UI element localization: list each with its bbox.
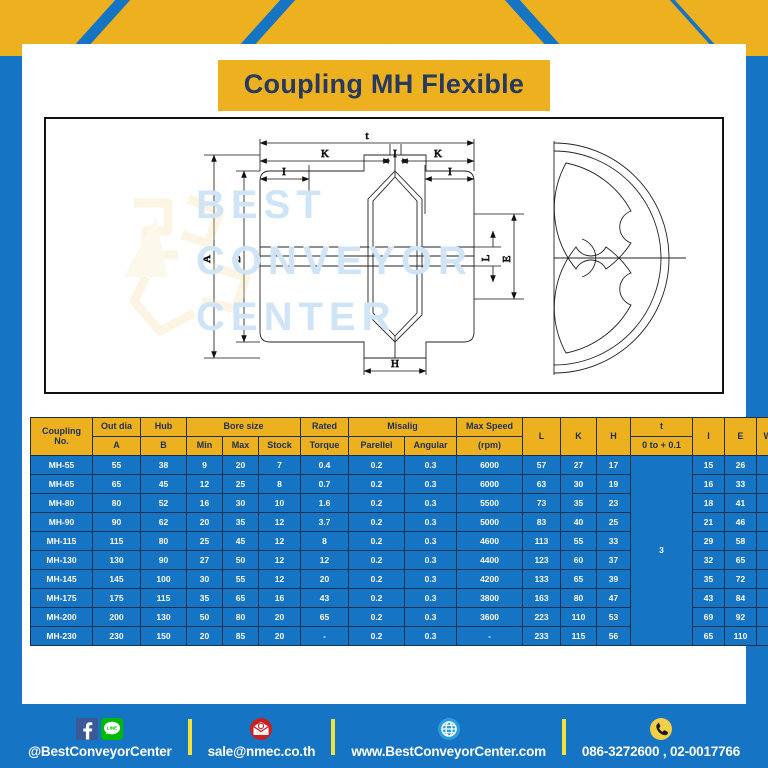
col-t-tolerance: 0 to + 0.1 <box>631 437 693 456</box>
cell-angular: 0.3 <box>405 456 457 475</box>
cell-K: 65 <box>561 570 597 589</box>
spec-sheet-page: Coupling MH Flexible BEST CONVEYOR CENTE… <box>0 0 768 768</box>
cell-torque: 0.7 <box>301 475 349 494</box>
footer-email-group[interactable]: sale@nmec.co.th <box>198 716 326 759</box>
cell-min: 20 <box>187 627 223 646</box>
dim-label-e: E <box>501 255 513 262</box>
cell-max: 35 <box>223 513 259 532</box>
cell-no: MH-175 <box>31 589 93 608</box>
cell-t: 3 <box>631 456 693 646</box>
col-h: H <box>597 418 631 456</box>
footer-contact-bar: LINE @BestConveyorCenter sale@nmec.co.th <box>0 706 768 768</box>
cell-weight: 1.5 <box>757 494 768 513</box>
cell-weight: 42.0 <box>757 627 768 646</box>
table-header-row-1: CouplingNo. Out dia Hub Bore size Rated … <box>31 418 768 437</box>
footer-social-text[interactable]: @BestConveyorCenter <box>28 744 172 759</box>
cell-L: 233 <box>523 627 561 646</box>
facebook-icon[interactable] <box>76 718 98 740</box>
cell-min: 50 <box>187 608 223 627</box>
cell-no: MH-130 <box>31 551 93 570</box>
footer-website-text[interactable]: www.BestConveyorCenter.com <box>351 744 546 759</box>
cell-rpm: 3800 <box>457 589 523 608</box>
col-e: E <box>725 418 757 456</box>
cell-min: 35 <box>187 589 223 608</box>
cell-min: 9 <box>187 456 223 475</box>
col-torque: Torque <box>301 437 349 456</box>
spider-half-view <box>554 141 686 375</box>
cell-max: 65 <box>223 589 259 608</box>
cell-max: 80 <box>223 608 259 627</box>
cell-max: 30 <box>223 494 259 513</box>
col-weight: Weight <box>757 418 768 456</box>
line-icon[interactable]: LINE <box>101 718 123 740</box>
cell-angular: 0.3 <box>405 513 457 532</box>
page-title-wrap: Coupling MH Flexible <box>22 60 746 111</box>
cell-angular: 0.3 <box>405 551 457 570</box>
cell-A: 130 <box>93 551 141 570</box>
col-rpm: (rpm) <box>457 437 523 456</box>
col-l: L <box>523 418 561 456</box>
cell-stock: 12 <box>259 551 301 570</box>
col-max: Max <box>223 437 259 456</box>
cell-stock: 20 <box>259 608 301 627</box>
cell-L: 113 <box>523 532 561 551</box>
cell-A: 115 <box>93 532 141 551</box>
cell-K: 30 <box>561 475 597 494</box>
cell-min: 27 <box>187 551 223 570</box>
cell-weight: 5.0 <box>757 532 768 551</box>
col-parellel: Parellel <box>349 437 405 456</box>
cell-I: 16 <box>693 475 725 494</box>
cell-parallel: 0.2 <box>349 608 405 627</box>
cell-E: 46 <box>725 513 757 532</box>
cell-H: 23 <box>597 494 631 513</box>
cell-H: 53 <box>597 608 631 627</box>
cell-I: 65 <box>693 627 725 646</box>
cell-H: 19 <box>597 475 631 494</box>
dim-label-k-right: K <box>434 148 442 160</box>
cell-stock: 20 <box>259 627 301 646</box>
cell-torque: 1.6 <box>301 494 349 513</box>
cell-L: 73 <box>523 494 561 513</box>
white-sheet: Coupling MH Flexible BEST CONVEYOR CENTE… <box>22 44 746 704</box>
cell-B: 115 <box>141 589 187 608</box>
cell-torque: - <box>301 627 349 646</box>
col-i: I <box>693 418 725 456</box>
cell-L: 57 <box>523 456 561 475</box>
cell-A: 55 <box>93 456 141 475</box>
cell-parallel: 0.2 <box>349 589 405 608</box>
footer-phone-group[interactable]: 086-3272600 , 02-0017766 <box>572 716 750 759</box>
cell-I: 69 <box>693 608 725 627</box>
cell-I: 18 <box>693 494 725 513</box>
cell-rpm: 4200 <box>457 570 523 589</box>
cell-parallel: 0.2 <box>349 551 405 570</box>
cell-L: 133 <box>523 570 561 589</box>
page-title: Coupling MH Flexible <box>218 60 551 111</box>
cell-no: MH-230 <box>31 627 93 646</box>
footer-phone-text[interactable]: 086-3272600 , 02-0017766 <box>582 744 740 759</box>
cell-max: 25 <box>223 475 259 494</box>
cell-E: 65 <box>725 551 757 570</box>
cell-rpm: 4400 <box>457 551 523 570</box>
cell-rpm: - <box>457 627 523 646</box>
cell-stock: 7 <box>259 456 301 475</box>
col-rated: Rated <box>301 418 349 437</box>
dim-label-i-center: I <box>393 148 397 160</box>
cell-torque: 65 <box>301 608 349 627</box>
cell-torque: 3.7 <box>301 513 349 532</box>
footer-website-group[interactable]: www.BestConveyorCenter.com <box>341 716 556 759</box>
cell-rpm: 5000 <box>457 513 523 532</box>
cell-max: 85 <box>223 627 259 646</box>
cell-stock: 12 <box>259 513 301 532</box>
cell-parallel: 0.2 <box>349 627 405 646</box>
cell-parallel: 0.2 <box>349 494 405 513</box>
cell-no: MH-55 <box>31 456 93 475</box>
cell-E: 84 <box>725 589 757 608</box>
footer-social-group[interactable]: LINE @BestConveyorCenter <box>18 716 182 759</box>
cell-angular: 0.3 <box>405 494 457 513</box>
specification-table-wrap: CouplingNo. Out dia Hub Bore size Rated … <box>30 417 738 646</box>
col-misalig: Misalig <box>349 418 457 437</box>
cell-L: 223 <box>523 608 561 627</box>
cell-torque: 12 <box>301 551 349 570</box>
cell-B: 80 <box>141 532 187 551</box>
footer-divider <box>331 719 335 755</box>
dim-label-t: t <box>365 130 368 142</box>
cell-H: 39 <box>597 570 631 589</box>
cell-stock: 10 <box>259 494 301 513</box>
cell-L: 163 <box>523 589 561 608</box>
col-coupling-no: CouplingNo. <box>31 418 93 456</box>
cell-A: 230 <box>93 627 141 646</box>
cell-K: 60 <box>561 551 597 570</box>
table-header-row-2: A B Min Max Stock Torque Parellel Angula… <box>31 437 768 456</box>
cell-no: MH-145 <box>31 570 93 589</box>
cell-I: 29 <box>693 532 725 551</box>
cell-E: 41 <box>725 494 757 513</box>
col-min: Min <box>187 437 223 456</box>
cell-parallel: 0.2 <box>349 475 405 494</box>
cell-parallel: 0.2 <box>349 513 405 532</box>
cell-E: 92 <box>725 608 757 627</box>
dim-label-h: H <box>391 358 399 370</box>
cell-weight: 0.6 <box>757 456 768 475</box>
footer-divider <box>188 719 192 755</box>
cell-A: 80 <box>93 494 141 513</box>
cell-H: 37 <box>597 551 631 570</box>
cell-H: 33 <box>597 532 631 551</box>
cell-stock: 8 <box>259 475 301 494</box>
cell-I: 35 <box>693 570 725 589</box>
cell-L: 63 <box>523 475 561 494</box>
cell-no: MH-200 <box>31 608 93 627</box>
cell-K: 115 <box>561 627 597 646</box>
cell-no: MH-65 <box>31 475 93 494</box>
cell-B: 100 <box>141 570 187 589</box>
cell-E: 110 <box>725 627 757 646</box>
cell-min: 25 <box>187 532 223 551</box>
cell-weight: 2.2 <box>757 513 768 532</box>
cell-angular: 0.3 <box>405 532 457 551</box>
cell-E: 33 <box>725 475 757 494</box>
col-max-speed: Max Speed <box>457 418 523 437</box>
cell-I: 21 <box>693 513 725 532</box>
dim-label-k-left: K <box>321 148 329 160</box>
table-body: MH-55553892070.40.20.36000572717315260.6… <box>31 456 768 646</box>
cell-stock: 12 <box>259 532 301 551</box>
col-t: t <box>631 418 693 437</box>
phone-icon[interactable] <box>649 717 673 741</box>
cell-parallel: 0.2 <box>349 532 405 551</box>
col-angular: Angular <box>405 437 457 456</box>
dim-label-l: L <box>480 254 492 261</box>
col-b: B <box>141 437 187 456</box>
col-k: K <box>561 418 597 456</box>
cell-K: 55 <box>561 532 597 551</box>
cell-B: 62 <box>141 513 187 532</box>
cell-B: 38 <box>141 456 187 475</box>
cell-A: 90 <box>93 513 141 532</box>
cell-B: 130 <box>141 608 187 627</box>
cell-rpm: 4600 <box>457 532 523 551</box>
cell-H: 25 <box>597 513 631 532</box>
cell-H: 47 <box>597 589 631 608</box>
svg-text:LINE: LINE <box>107 725 117 730</box>
col-stock: Stock <box>259 437 301 456</box>
cell-B: 52 <box>141 494 187 513</box>
cell-A: 200 <box>93 608 141 627</box>
cell-I: 15 <box>693 456 725 475</box>
footer-email-text[interactable]: sale@nmec.co.th <box>208 744 316 759</box>
cell-H: 56 <box>597 627 631 646</box>
cell-min: 12 <box>187 475 223 494</box>
col-hub: Hub <box>141 418 187 437</box>
table-row: MH-55553892070.40.20.36000572717315260.6 <box>31 456 768 475</box>
footer-divider <box>562 719 566 755</box>
cell-E: 72 <box>725 570 757 589</box>
cell-angular: 0.3 <box>405 570 457 589</box>
cell-parallel: 0.2 <box>349 570 405 589</box>
cell-K: 40 <box>561 513 597 532</box>
cell-K: 35 <box>561 494 597 513</box>
cell-H: 17 <box>597 456 631 475</box>
cell-max: 20 <box>223 456 259 475</box>
cell-B: 90 <box>141 551 187 570</box>
cell-angular: 0.3 <box>405 608 457 627</box>
cell-rpm: 3600 <box>457 608 523 627</box>
cell-K: 27 <box>561 456 597 475</box>
cell-rpm: 6000 <box>457 456 523 475</box>
cell-parallel: 0.2 <box>349 456 405 475</box>
cell-no: MH-115 <box>31 532 93 551</box>
cell-no: MH-90 <box>31 513 93 532</box>
cell-E: 26 <box>725 456 757 475</box>
cell-stock: 12 <box>259 570 301 589</box>
cell-min: 16 <box>187 494 223 513</box>
cell-rpm: 6000 <box>457 475 523 494</box>
cell-L: 83 <box>523 513 561 532</box>
specification-table: CouplingNo. Out dia Hub Bore size Rated … <box>30 417 768 646</box>
cell-weight: 7.0 <box>757 551 768 570</box>
cell-L: 123 <box>523 551 561 570</box>
cell-max: 55 <box>223 570 259 589</box>
email-icon[interactable] <box>249 717 273 741</box>
cell-I: 32 <box>693 551 725 570</box>
cell-weight: 16.1 <box>757 589 768 608</box>
cell-rpm: 5500 <box>457 494 523 513</box>
cell-min: 20 <box>187 513 223 532</box>
cell-torque: 20 <box>301 570 349 589</box>
col-a: A <box>93 437 141 456</box>
cell-E: 58 <box>725 532 757 551</box>
cell-angular: 0.3 <box>405 589 457 608</box>
cell-torque: 0.4 <box>301 456 349 475</box>
cell-B: 150 <box>141 627 187 646</box>
cell-min: 30 <box>187 570 223 589</box>
technical-drawing-frame: BEST CONVEYOR CENTER <box>44 117 724 394</box>
cell-angular: 0.3 <box>405 627 457 646</box>
cell-stock: 16 <box>259 589 301 608</box>
cell-torque: 43 <box>301 589 349 608</box>
cell-weight: 35.5 <box>757 608 768 627</box>
cell-no: MH-80 <box>31 494 93 513</box>
cell-A: 145 <box>93 570 141 589</box>
cell-max: 50 <box>223 551 259 570</box>
cell-I: 43 <box>693 589 725 608</box>
globe-icon[interactable] <box>437 717 461 741</box>
cell-A: 175 <box>93 589 141 608</box>
cell-K: 110 <box>561 608 597 627</box>
cell-angular: 0.3 <box>405 475 457 494</box>
cell-B: 45 <box>141 475 187 494</box>
cell-torque: 8 <box>301 532 349 551</box>
cell-weight: 0.9 <box>757 475 768 494</box>
col-out-dia: Out dia <box>93 418 141 437</box>
cell-K: 80 <box>561 589 597 608</box>
cell-weight: 9.2 <box>757 570 768 589</box>
col-bore-size: Bore size <box>187 418 301 437</box>
brand-watermark: BEST CONVEYOR CENTER <box>196 177 473 345</box>
cell-max: 45 <box>223 532 259 551</box>
cell-A: 65 <box>93 475 141 494</box>
